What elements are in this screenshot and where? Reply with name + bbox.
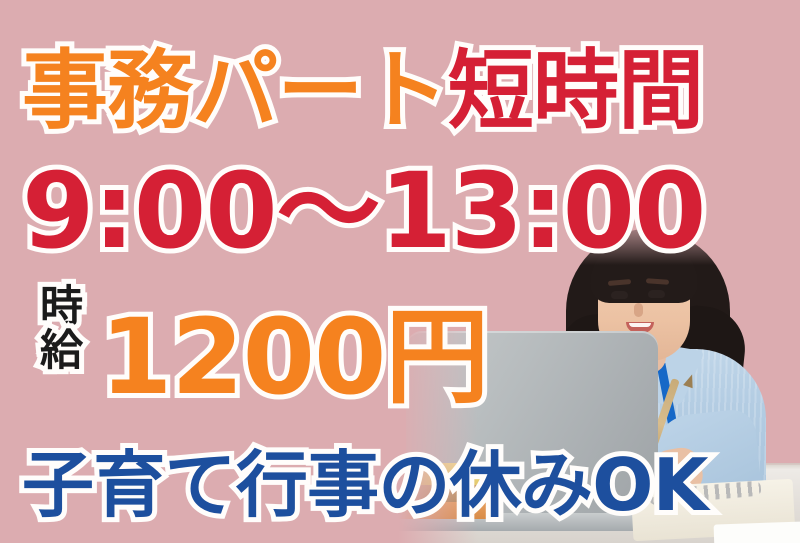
work-hours-line: 9:00～13:00 9:00～13:00 <box>22 126 705 277</box>
headline-text-layer: 事務パート 事務パート 短時間 短時間 9:00～13:00 9:00～13:0… <box>0 0 800 543</box>
job-ad-banner: 事務パート 事務パート 短時間 短時間 9:00～13:00 9:00～13:0… <box>0 0 800 543</box>
benefit-text: 子育て行事の休みOK <box>22 443 708 527</box>
benefit-line: 子育て行事の休みOK 子育て行事の休みOK <box>22 426 708 531</box>
wage-label-char1: 時 <box>40 282 83 332</box>
wage-label-char2: 給 <box>40 326 83 376</box>
wage-label: 時 時 給 給 <box>40 286 83 374</box>
wage-amount-line: 1200円 1200円 <box>100 272 488 423</box>
wage-amount: 1200円 <box>100 296 488 418</box>
work-hours: 9:00～13:00 <box>22 150 705 272</box>
